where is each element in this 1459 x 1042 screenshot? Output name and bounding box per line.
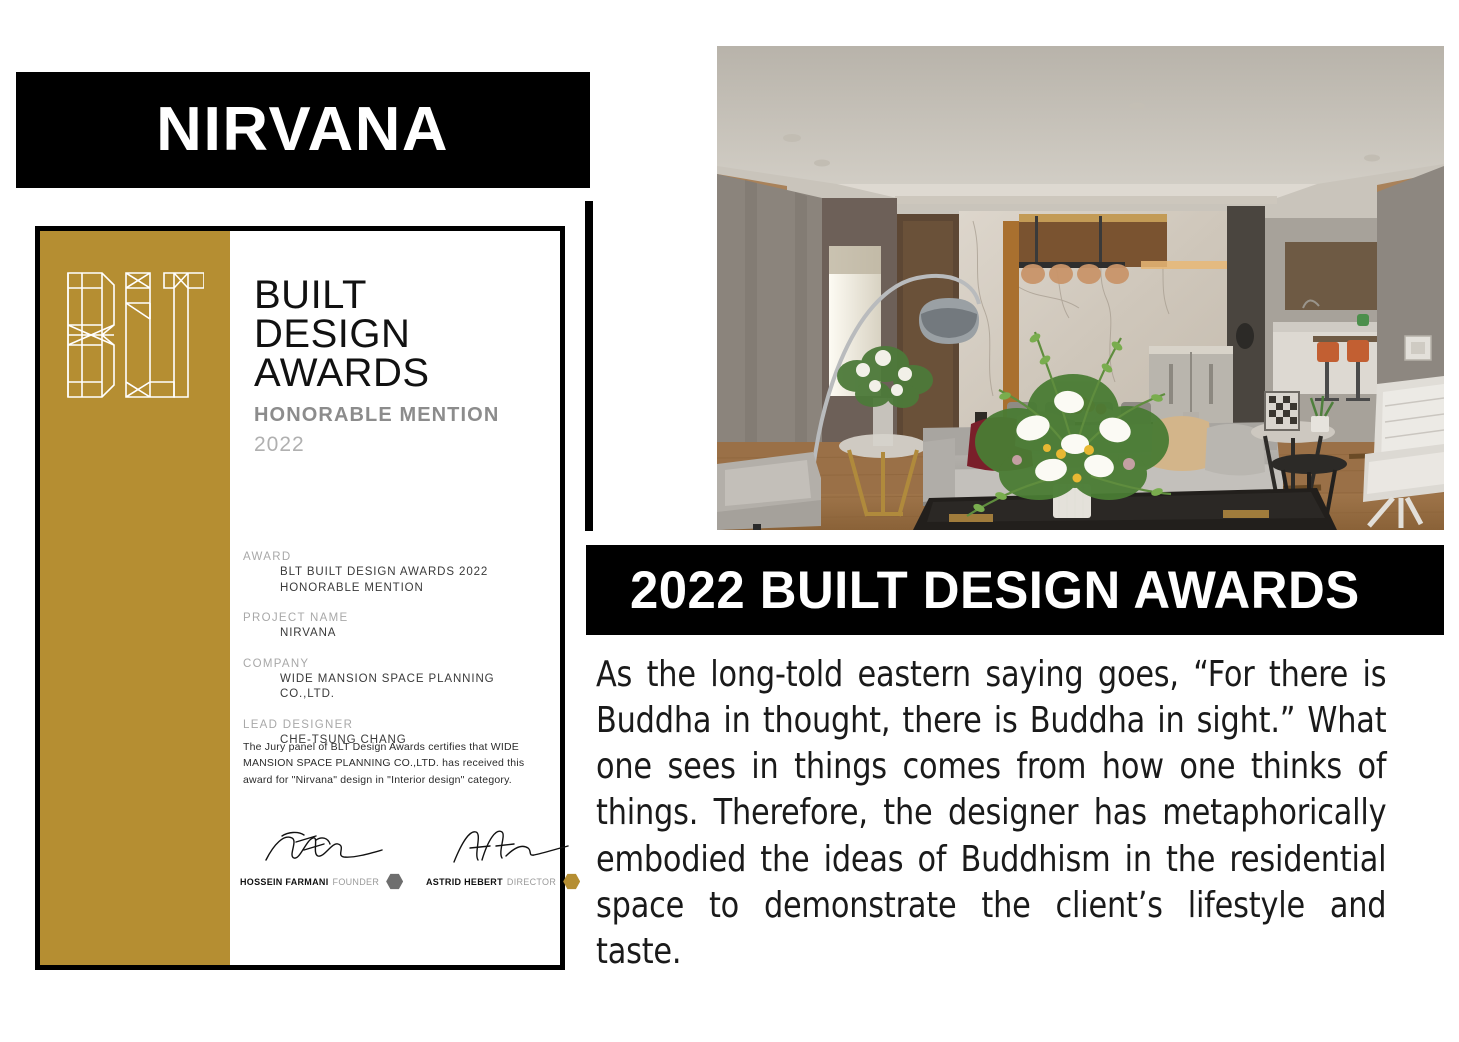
signatory-role: FOUNDER [333, 877, 380, 887]
heading-line-3: AWARDS [254, 354, 550, 393]
field-label: COMPANY [243, 658, 552, 670]
award-certificate: BUILT DESIGN AWARDS HONORABLE MENTION 20… [35, 226, 565, 970]
heading-line-2: DESIGN [254, 315, 550, 354]
signatory-name: HOSSEIN FARMANI [240, 877, 329, 887]
signature-block-founder: HOSSEIN FARMANI FOUNDER [240, 826, 408, 890]
field-label: PROJECT NAME [243, 612, 552, 624]
award-banner: 2022 BUILT DESIGN AWARDS [586, 545, 1444, 635]
signature-caption: HOSSEIN FARMANI FOUNDER [240, 873, 408, 890]
jury-statement: The Jury panel of BLT Design Awards cert… [243, 739, 546, 788]
certificate-gold-panel [40, 231, 230, 965]
signatory-role: DIRECTOR [507, 877, 556, 887]
certificate-heading: BUILT DESIGN AWARDS HONORABLE MENTION 20… [254, 276, 550, 457]
field-label: LEAD DESIGNER [243, 719, 552, 731]
field-award: AWARD BLT BUILT DESIGN AWARDS 2022 HONOR… [243, 551, 552, 596]
signature-icon [258, 826, 408, 868]
vertical-divider [585, 201, 593, 531]
seal-hexagon-icon [563, 873, 580, 890]
seal-hexagon-icon [386, 873, 403, 890]
blt-logo-icon [62, 263, 204, 405]
field-value: NIRVANA [280, 626, 552, 642]
signature-caption: ASTRID HEBERT DIRECTOR [426, 873, 594, 890]
project-title-bar: NIRVANA [16, 72, 590, 188]
field-value: WIDE MANSION SPACE PLANNING CO.,LTD. [280, 672, 552, 703]
field-value: BLT BUILT DESIGN AWARDS 2022 HONORABLE M… [280, 565, 552, 596]
signature-icon [444, 826, 594, 868]
signatory-name: ASTRID HEBERT [426, 877, 503, 887]
field-company: COMPANY WIDE MANSION SPACE PLANNING CO.,… [243, 658, 552, 703]
award-level: HONORABLE MENTION [254, 404, 550, 427]
certificate-content-panel: BUILT DESIGN AWARDS HONORABLE MENTION 20… [230, 231, 560, 965]
signature-row: HOSSEIN FARMANI FOUNDER ASTRID [240, 826, 554, 890]
project-description: As the long-told eastern saying goes, “F… [596, 652, 1386, 975]
banner-title: 2022 BUILT DESIGN AWARDS [630, 560, 1360, 621]
field-project-name: PROJECT NAME NIRVANA [243, 612, 552, 642]
interior-photo-illustration [717, 46, 1444, 530]
award-year: 2022 [254, 433, 550, 457]
field-label: AWARD [243, 551, 552, 563]
certificate-fields: AWARD BLT BUILT DESIGN AWARDS 2022 HONOR… [243, 551, 552, 764]
signature-block-director: ASTRID HEBERT DIRECTOR [426, 826, 594, 890]
heading-line-1: BUILT [254, 276, 550, 315]
interior-photograph [717, 46, 1444, 530]
page-title: NIRVANA [157, 99, 450, 161]
